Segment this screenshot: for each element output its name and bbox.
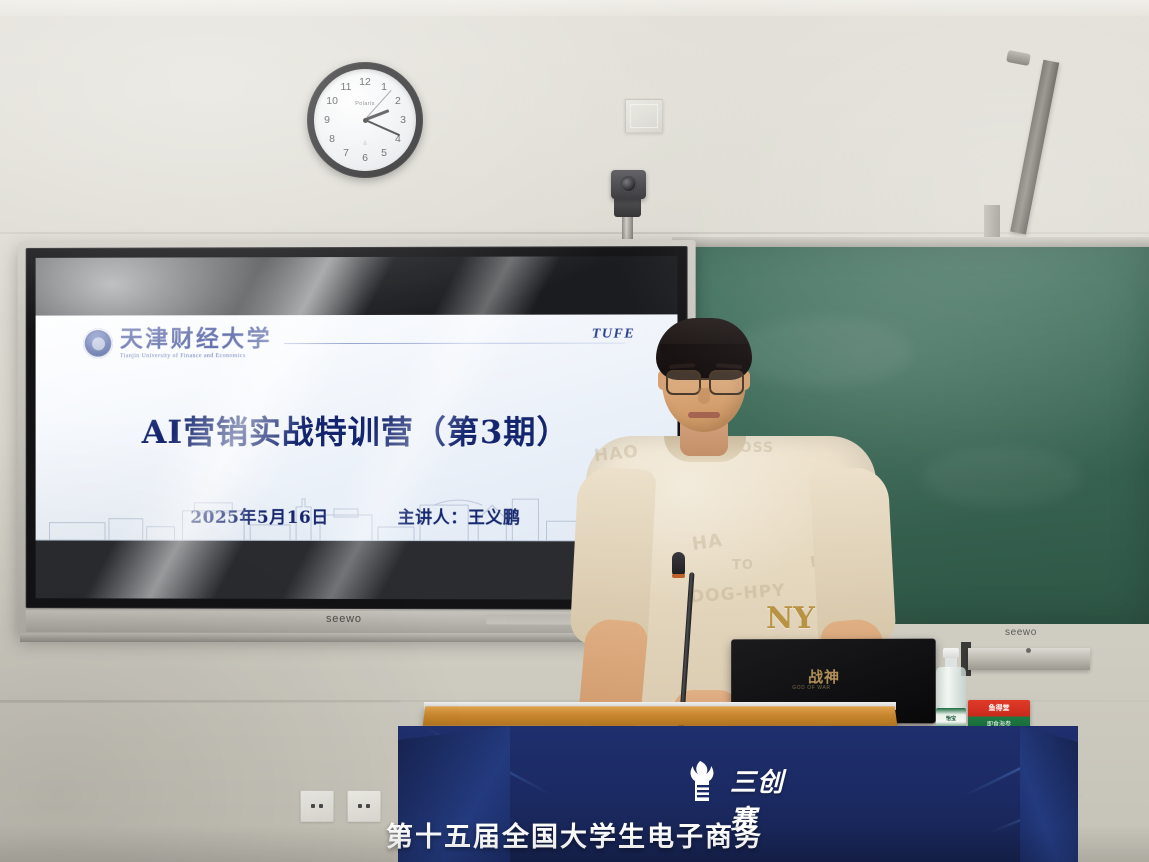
seewo-brand-right: seewo [1005,627,1037,638]
bottle-cap [943,648,959,658]
presenter-nose [698,388,710,404]
seewo-brand-left: seewo [326,613,362,625]
university-name-en: Tianjin University of Finance and Econom… [120,353,272,359]
bottle-label-text: 怡宝 [936,715,966,722]
wall-clock: Polaris ◬ 121234567891011 [307,62,423,178]
glasses-lens-left [666,370,701,395]
university-seal-icon [83,328,113,358]
water-bottle: 怡宝 [936,648,966,728]
clock-secondary-mark: ◬ [363,140,367,146]
clock-numeral-8: 8 [325,133,339,145]
university-logo: 天津财经大学 Tianjin University of Finance and… [83,327,272,359]
microphone-band [672,574,685,578]
camera-lens-icon [620,176,637,193]
ceiling-strip [0,0,1149,16]
clock-numeral-10: 10 [325,95,339,107]
clock-numeral-6: 6 [358,152,372,164]
clock-face: Polaris ◬ 121234567891011 [314,69,416,171]
clock-center-pin [363,118,368,123]
glasses-bridge [697,378,711,380]
clock-numeral-11: 11 [339,81,353,93]
clock-numeral-12: 12 [358,76,372,88]
laptop-brand-cn: 战神 [808,666,840,687]
classroom-scene: Polaris ◬ 121234567891011 seewo [0,0,1149,862]
university-name-cn: 天津财经大学 [120,327,272,350]
clock-numeral-2: 2 [391,95,405,107]
clock-brand-label: Polaris [355,101,375,107]
wall-seam-upper [0,232,1149,234]
tray-screw [1026,648,1031,653]
bottle-body [936,667,966,711]
torch-icon [686,757,722,803]
scene-bottom-shadow [0,826,1149,862]
sanchuangsai-logo: 三创赛 [686,757,806,805]
slide-top-band [36,256,678,315]
podium-worktop [423,706,898,725]
clock-minute-hand [365,119,401,136]
shirt-ny-logo: NY [766,604,815,634]
clock-numeral-9: 9 [320,114,334,126]
clock-numeral-5: 5 [377,147,391,159]
clock-numeral-3: 3 [396,114,410,126]
wall-junction-box [625,99,663,133]
clock-numeral-7: 7 [339,147,353,159]
glasses-lens-right [709,370,744,395]
product-box-line1: 鱼得堂 [968,703,1030,713]
classroom-camera [611,170,646,199]
wall-dado-line [0,700,400,703]
laptop-brand-en: GOD OF WAR [792,685,830,691]
presenter-mouth [688,412,720,418]
